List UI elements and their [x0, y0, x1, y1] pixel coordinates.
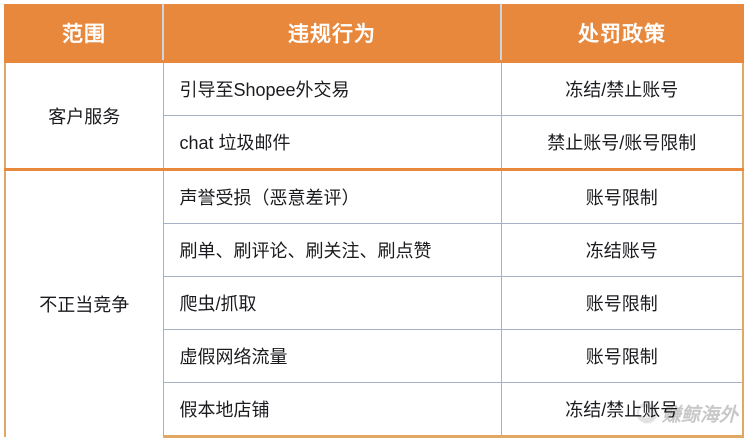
document-page: 范围 违规行为 处罚政策 客户服务 引导至Shopee外交易 冻结/禁止账号 c…	[0, 0, 748, 444]
scope-cell-unfair-competition: 不正当竞争	[5, 170, 163, 437]
penalty-cell: 账号限制	[501, 330, 743, 383]
violation-cell: 假本地店铺	[163, 383, 501, 437]
table-row: 客户服务 引导至Shopee外交易 冻结/禁止账号	[5, 62, 743, 116]
header-row: 范围 违规行为 处罚政策	[5, 5, 743, 62]
violation-policy-table: 范围 违规行为 处罚政策 客户服务 引导至Shopee外交易 冻结/禁止账号 c…	[4, 4, 744, 438]
penalty-cell: 禁止账号/账号限制	[501, 116, 743, 170]
table-body: 客户服务 引导至Shopee外交易 冻结/禁止账号 chat 垃圾邮件 禁止账号…	[5, 62, 743, 437]
table-row: 不正当竞争 声誉受损（恶意差评） 账号限制	[5, 170, 743, 224]
violation-cell: 引导至Shopee外交易	[163, 62, 501, 116]
table-header: 范围 违规行为 处罚政策	[5, 5, 743, 62]
penalty-cell: 冻结/禁止账号	[501, 62, 743, 116]
violation-cell: 刷单、刷评论、刷关注、刷点赞	[163, 224, 501, 277]
column-header-penalty: 处罚政策	[501, 5, 743, 62]
penalty-cell: 冻结账号	[501, 224, 743, 277]
penalty-cell: 账号限制	[501, 170, 743, 224]
column-header-violation: 违规行为	[163, 5, 501, 62]
column-header-scope: 范围	[5, 5, 163, 62]
penalty-cell: 冻结/禁止账号	[501, 383, 743, 437]
violation-cell: 爬虫/抓取	[163, 277, 501, 330]
penalty-cell: 账号限制	[501, 277, 743, 330]
scope-cell-customer-service: 客户服务	[5, 62, 163, 170]
violation-cell: 虚假网络流量	[163, 330, 501, 383]
violation-cell: chat 垃圾邮件	[163, 116, 501, 170]
violation-cell: 声誉受损（恶意差评）	[163, 170, 501, 224]
